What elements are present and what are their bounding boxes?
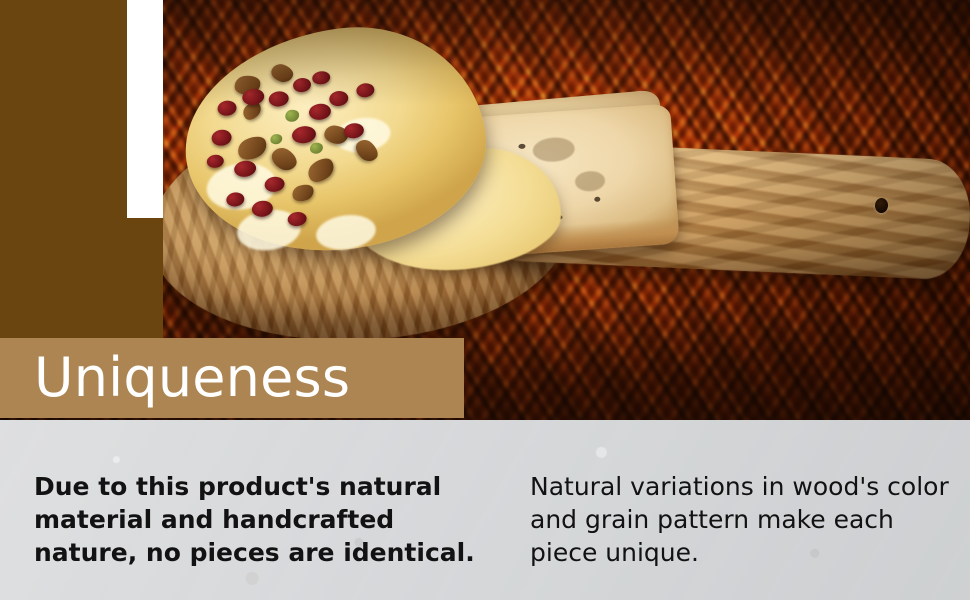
description-column-left: Due to this product's natural material a… (0, 420, 515, 600)
page-title: Uniqueness (34, 351, 350, 405)
description-columns: Due to this product's natural material a… (0, 420, 970, 600)
description-text-right: Natural variations in wood's color and g… (530, 470, 960, 569)
description-section: Due to this product's natural material a… (0, 420, 970, 600)
title-banner: Uniqueness (0, 338, 464, 418)
description-column-right: Natural variations in wood's color and g… (515, 420, 970, 600)
product-feature-banner: Uniqueness Due to this product's natural… (0, 0, 970, 600)
white-notch-strip (127, 0, 163, 218)
description-text-left: Due to this product's natural material a… (34, 470, 494, 569)
